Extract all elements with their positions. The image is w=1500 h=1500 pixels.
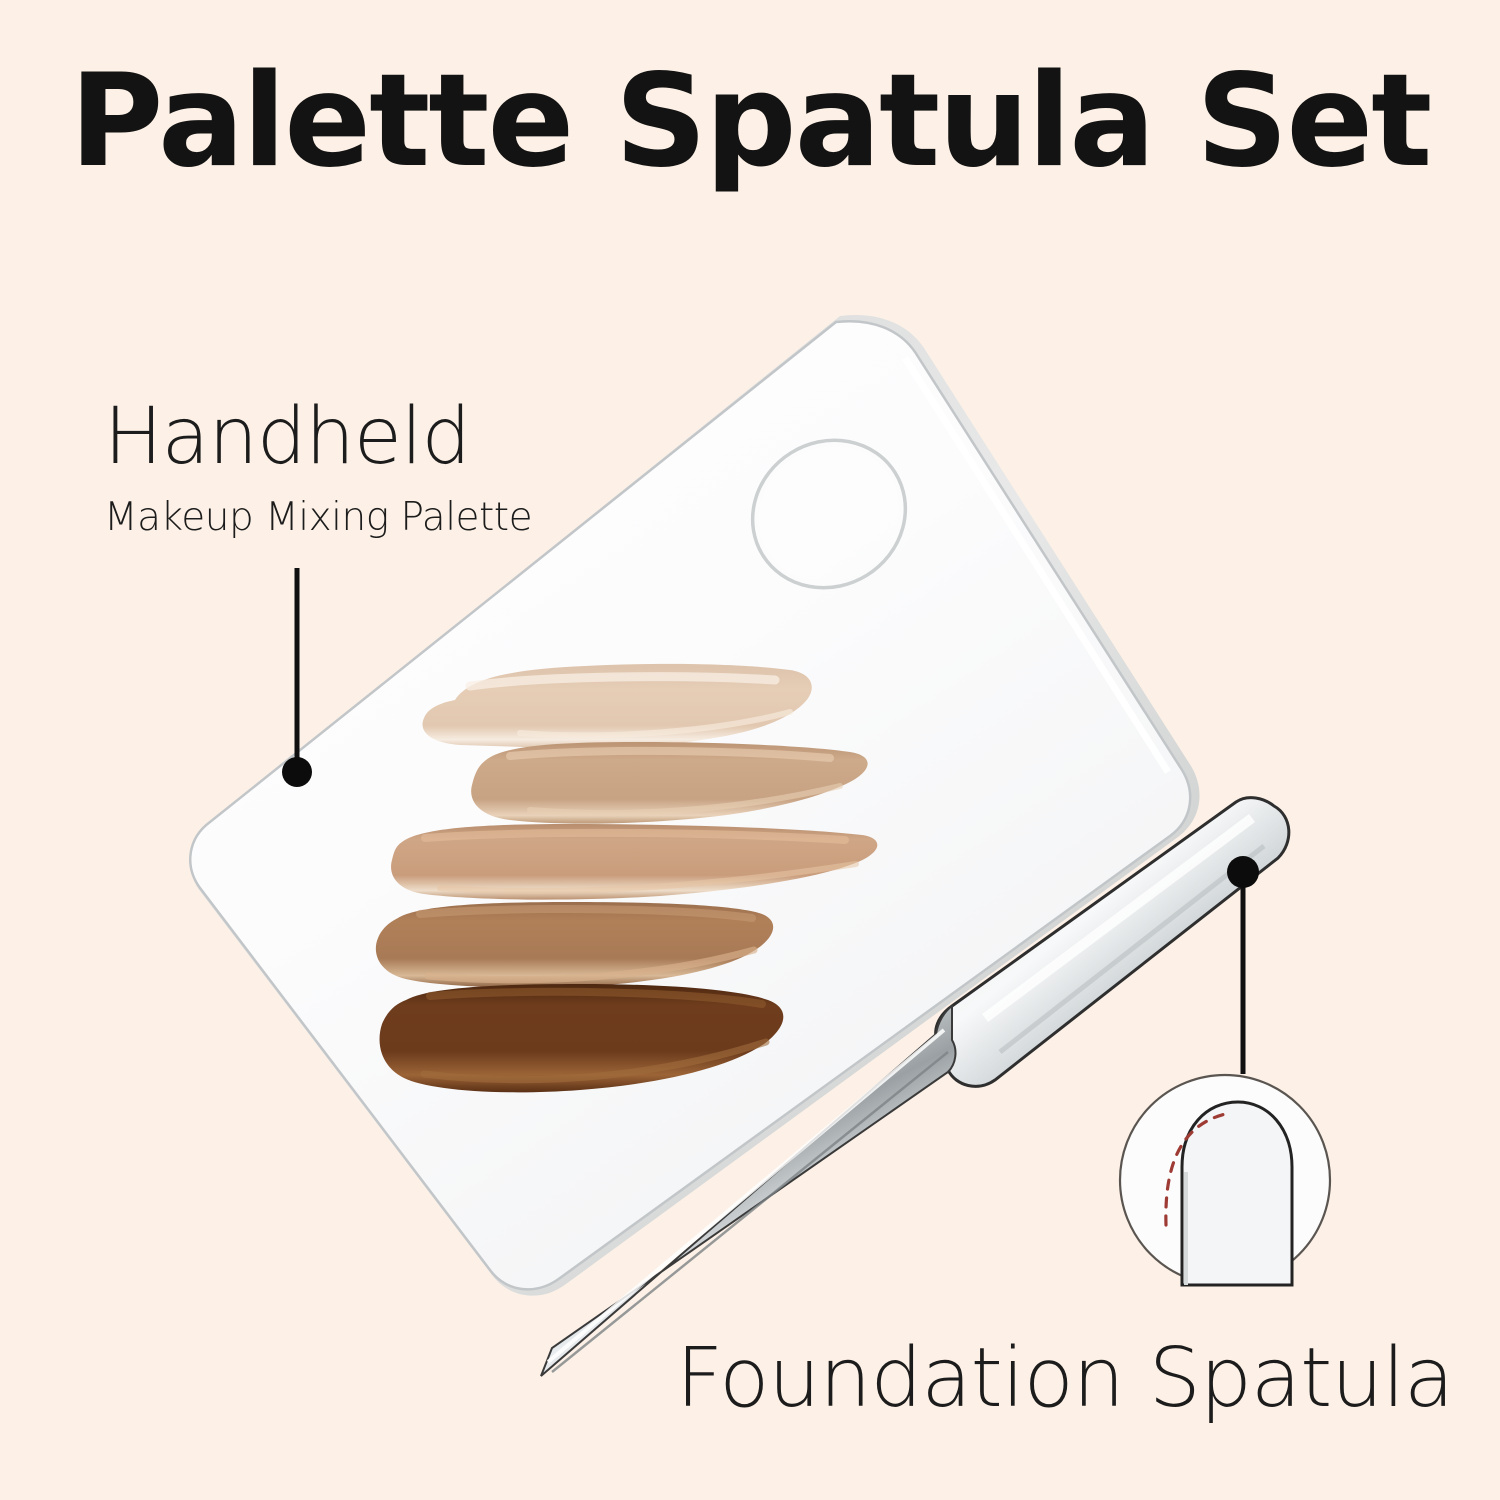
page-title: Palette Spatula Set <box>0 58 1500 186</box>
spatula-callout-dot <box>1227 856 1259 888</box>
palette-callout-heading: Handheld <box>104 398 470 476</box>
rounded-tip-detail-circle <box>1120 1075 1330 1285</box>
spatula-callout-heading: Foundation Spatula <box>676 1338 1453 1420</box>
product-illustration <box>0 0 1500 1500</box>
palette-callout-subheading: Makeup Mixing Palette <box>104 498 532 537</box>
infographic-canvas: Palette Spatula Set Handheld Makeup Mixi… <box>0 0 1500 1500</box>
detail-tip-shape <box>1182 1102 1292 1285</box>
palette-callout-dot <box>282 757 312 787</box>
